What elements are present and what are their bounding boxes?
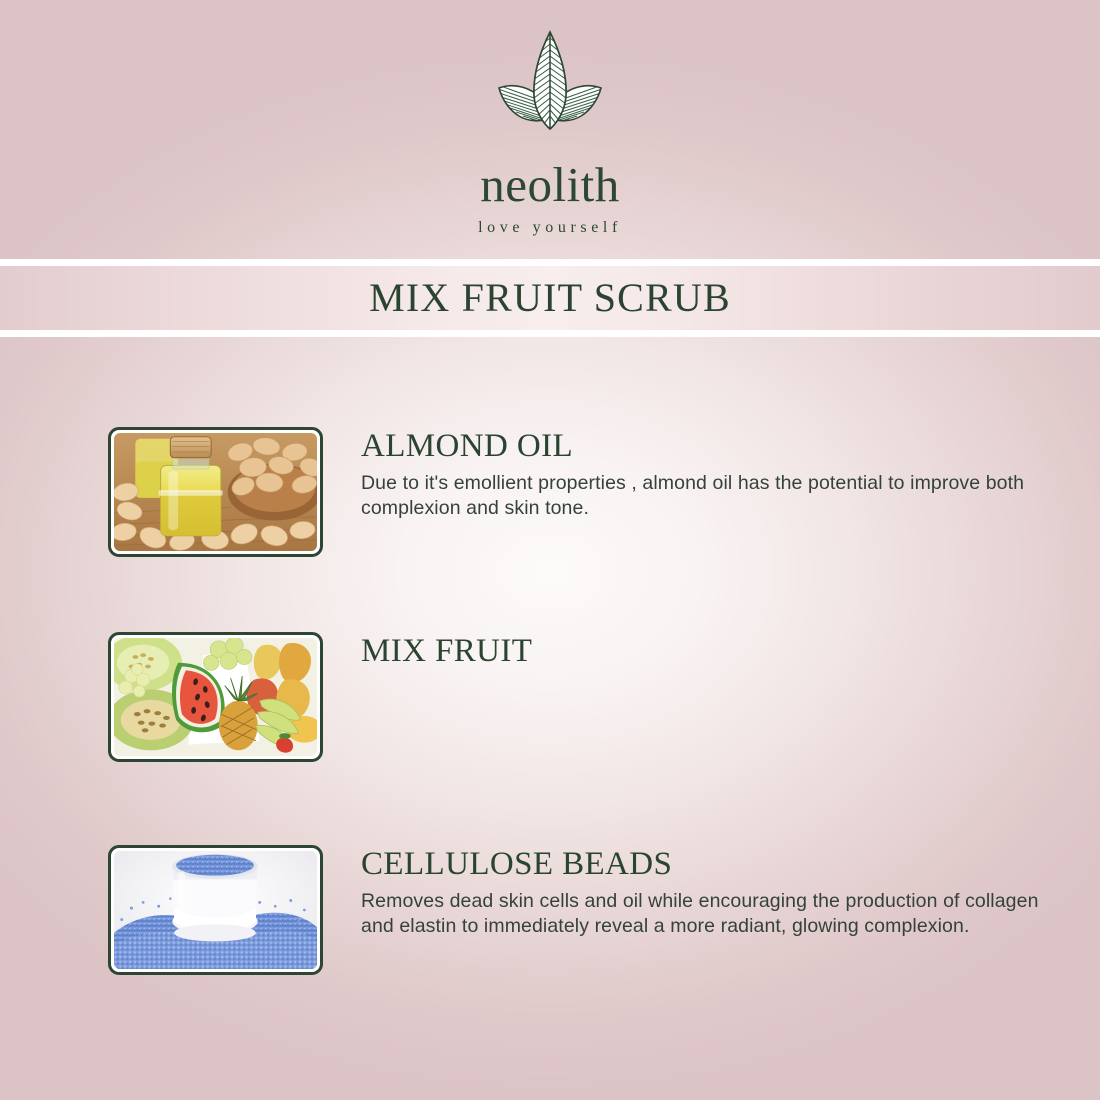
almond-oil-illustration — [114, 433, 317, 551]
brand-tagline: love yourself — [478, 220, 622, 236]
brand-name: neolith — [480, 160, 620, 209]
ingredient-description: Due to it's emollient properties , almon… — [361, 471, 1068, 522]
mix-fruit-photo — [108, 632, 323, 762]
mix-fruit-illustration — [114, 638, 317, 756]
list-item: CELLULOSE BEADS Removes dead skin cells … — [108, 845, 1068, 975]
product-title-band: MIX FRUIT SCRUB — [0, 266, 1100, 330]
divider-top — [0, 259, 1100, 266]
three-leaf-plant-icon — [491, 28, 609, 140]
almond-oil-photo — [108, 427, 323, 557]
ingredient-title: MIX FRUIT — [361, 634, 1068, 670]
list-item: MIX FRUIT — [108, 632, 1068, 762]
cellulose-beads-illustration — [114, 851, 317, 969]
list-item: ALMOND OIL Due to it's emollient propert… — [108, 427, 1068, 557]
brand-header: neolith love yourself — [0, 0, 1100, 260]
cellulose-beads-photo — [108, 845, 323, 975]
product-infographic: neolith love yourself MIX FRUIT SCRUB — [0, 0, 1100, 1100]
ingredient-list: ALMOND OIL Due to it's emollient propert… — [0, 336, 1100, 1100]
ingredient-description: Removes dead skin cells and oil while en… — [361, 889, 1068, 940]
page-title: MIX FRUIT SCRUB — [369, 278, 731, 318]
ingredient-title: CELLULOSE BEADS — [361, 847, 1068, 883]
ingredient-title: ALMOND OIL — [361, 429, 1068, 465]
